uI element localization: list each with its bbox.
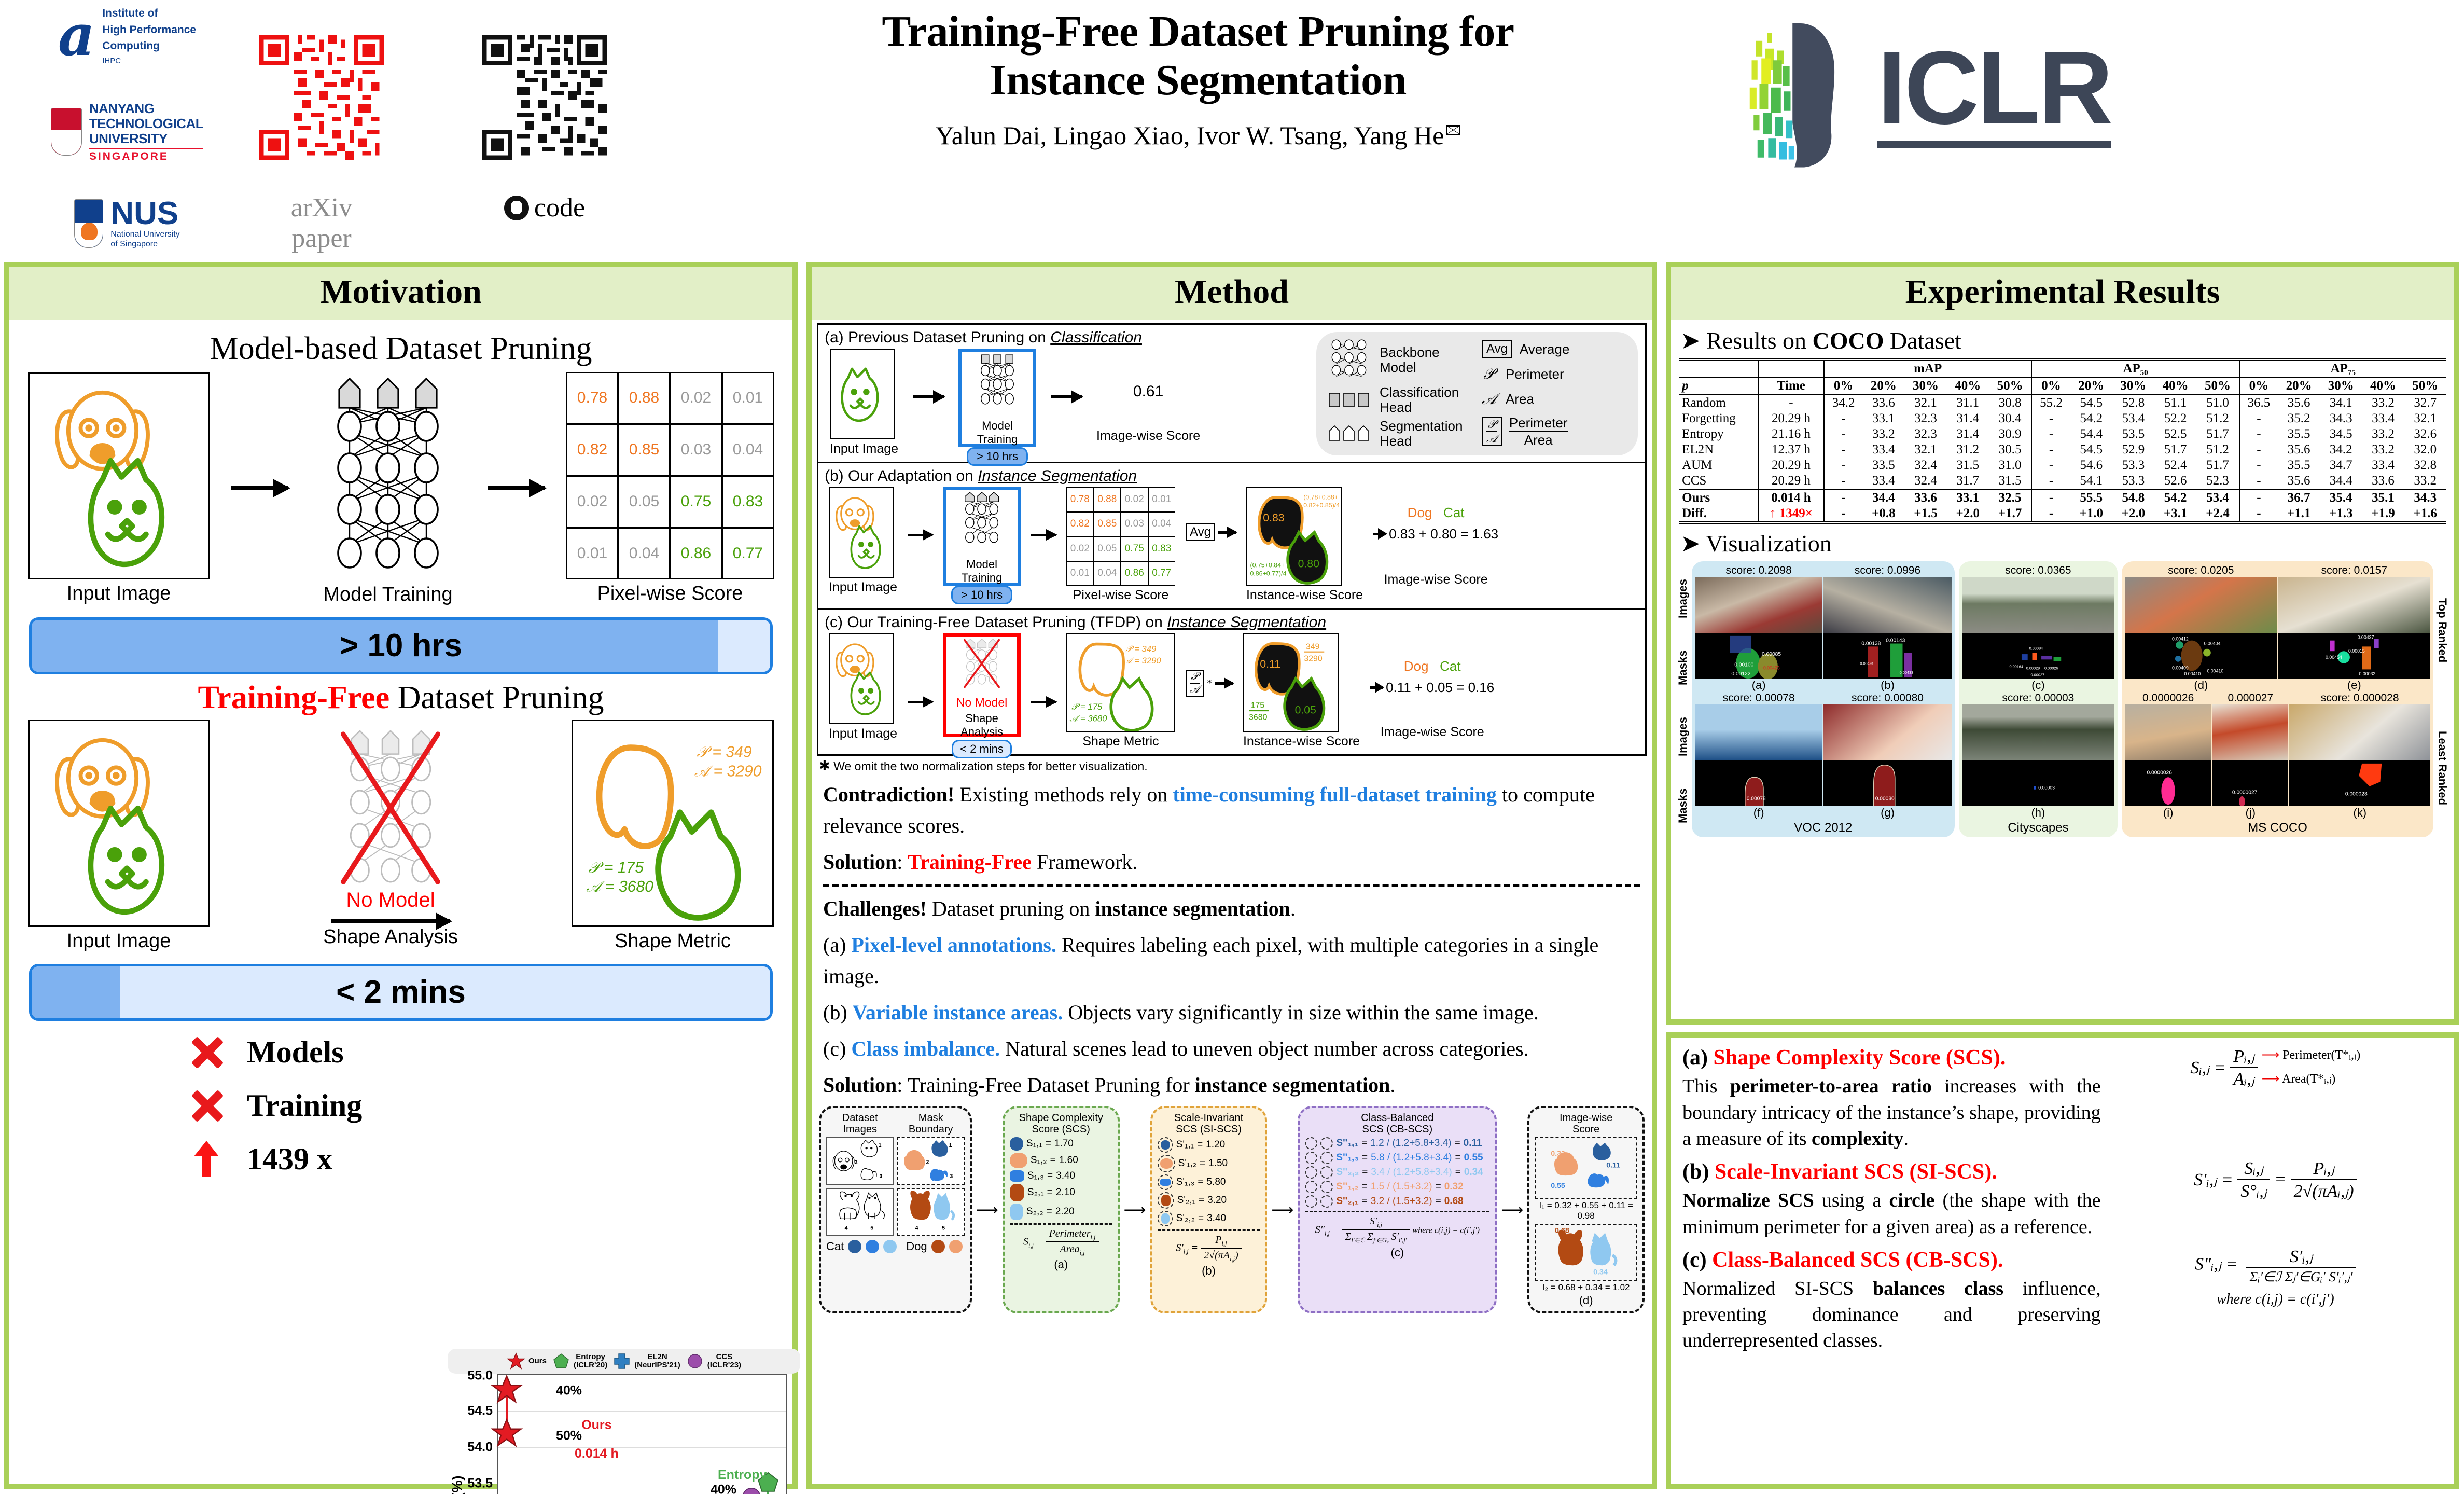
solution1-label: Solution — [823, 850, 897, 874]
cat-area-text: 𝒜 = 3680 — [586, 878, 653, 895]
panel-motivation: Motivation Model-based Dataset Pruning — [4, 262, 798, 1489]
qr-arxiv-paper[interactable]: arXiv paper — [259, 9, 384, 254]
cell: 51.2 — [2196, 442, 2239, 458]
visualization-area: Images Masks Images Masks score: 0.2098 … — [1676, 561, 2449, 837]
qr-code-icon[interactable] — [482, 9, 607, 186]
panel-formulas: (a) Shape Complexity Score (SCS). This p… — [1666, 1032, 2459, 1489]
arxiv-label: arXiv paper — [259, 192, 384, 254]
row-name: Forgetting — [1679, 411, 1758, 426]
contradiction-text: Contradiction! Existing methods rely on … — [823, 779, 1640, 841]
cell: 33.5 — [1862, 458, 1904, 473]
nus-crest-icon — [74, 199, 103, 248]
cell: +0.8 — [1862, 506, 1904, 523]
bullet1-pre: Results on — [1706, 327, 1812, 354]
mask-value: 0.00003 — [2038, 785, 2055, 791]
cbscs-row: S''₂,₂=3.4 / (1.2+5.8+3.4)=0.34 — [1305, 1166, 1489, 1179]
row-name: EL2N — [1679, 442, 1758, 458]
svg-text:0.82+0.85)/4: 0.82+0.85)/4 — [1303, 502, 1340, 509]
siscs-formula: S′i,j = Pi,j2√(πAi,j) — [1158, 1229, 1260, 1263]
time-bar-fast-label: < 2 mins — [32, 966, 770, 1018]
scs-val: 1.60 — [1059, 1155, 1078, 1166]
data-point-ours-50[interactable] — [491, 1417, 523, 1452]
method-c-pill: < 2 mins — [952, 740, 1012, 758]
pixel-cell: 0.85 — [1094, 512, 1121, 537]
cell: - — [1824, 426, 1862, 442]
cell: 51.2 — [2196, 411, 2239, 426]
viz-score: score: 0.00003 — [1962, 692, 2114, 704]
instance-score-illustration: 0.11 349 3290 0.05 175 3680 — [1244, 634, 1338, 731]
checklist-item-training: Training — [190, 1088, 783, 1124]
viz-caption: (f) — [1695, 806, 1822, 820]
cell: 32.4 — [1904, 458, 1946, 473]
cell: - — [1824, 473, 1862, 490]
method-footnote-text: We omit the two normalization steps for … — [833, 759, 1148, 773]
dog-color-swatch-1 — [931, 1240, 945, 1253]
dog-cat-illustration — [30, 374, 208, 578]
cbscs-description: (c) Class-Balanced SCS (CB-SCS). Normali… — [1682, 1246, 2101, 1354]
arrow-right — [1031, 534, 1056, 536]
cell: 33.6 — [1862, 395, 1904, 411]
method-b-model-box: Model Training > 10 hrs — [943, 487, 1021, 586]
cbscs-expr: 5.8 / (1.2+5.8+3.4) — [1371, 1152, 1452, 1164]
viz-caption: (j) — [2212, 806, 2288, 820]
method-c-shape-analysis: Shape Analysis — [946, 712, 1017, 739]
cat-color-swatch-1 — [848, 1240, 861, 1253]
row-label-masks-bottom: Masks — [1676, 783, 1690, 828]
cell: 54.1 — [2070, 473, 2112, 490]
viz-mask: 0.00122 0.00085 0.00100 0.00423 — [1695, 633, 1822, 679]
formula-section-cbscs: (c) Class-Balanced SCS (CB-SCS). Normali… — [1682, 1246, 2443, 1354]
method-a-score: 0.61 — [1096, 383, 1200, 400]
instance-number: 1 — [949, 1142, 952, 1149]
scs-den: Aᵢ,ⱼ — [2230, 1068, 2258, 1089]
cell: +2.0 — [2112, 506, 2154, 523]
pixel-cell: 0.04 — [1094, 561, 1121, 586]
table-column-header-row: p Time 0% 20% 30% 40% 50% 0% 20% 30% 40%… — [1679, 378, 2446, 395]
bullet1-bold: COCO — [1813, 327, 1884, 354]
cat-frac-num: 175 — [1251, 701, 1265, 710]
method-subpanel-c: (c) Our Training-Free Dataset Pruning (T… — [818, 610, 1645, 754]
cell: 31.5 — [1989, 473, 2032, 490]
viz-image — [2125, 577, 2277, 633]
pixel-cell: 0.88 — [618, 372, 670, 424]
ihpc-line1: Institute of — [102, 5, 196, 22]
cell: 32.5 — [1989, 490, 2032, 506]
imagewise-val: 0.55 — [1551, 1181, 1566, 1189]
viz-mask: 0.00003 — [1962, 760, 2114, 806]
mask-value: 0.00122 — [1731, 671, 1750, 677]
viz-score: 0.0000026 — [2125, 692, 2211, 704]
mask-value: 0.00143 — [1886, 638, 1905, 644]
cell: 54.4 — [2070, 426, 2112, 442]
cell: - — [2239, 490, 2278, 506]
title-block: Training-Free Dataset Pruning for Instan… — [711, 7, 1686, 150]
col-ratio: 20% — [2278, 378, 2320, 395]
model-based-title: Model-based Dataset Pruning — [19, 330, 783, 367]
viz-mask: 0.0000027 — [2212, 760, 2288, 806]
pixel-cell: 0.01 — [1148, 487, 1176, 512]
row-label-masks-top: Masks — [1676, 645, 1690, 690]
cbscs-sym: S''₁,₃ — [1336, 1152, 1359, 1164]
cell: - — [1824, 442, 1862, 458]
viz-score: score: 0.0157 — [2278, 564, 2430, 577]
mask-value: 0.00078 — [1747, 796, 1766, 801]
col-ratio: 20% — [1862, 378, 1904, 395]
cell: 31.5 — [1947, 458, 1989, 473]
method-c-title-italic: Instance Segmentation — [1167, 614, 1326, 631]
challenge-b: (b) Variable instance areas. Objects var… — [823, 997, 1640, 1028]
row-name: AUM — [1679, 458, 1758, 473]
neural-net-illustration — [310, 370, 466, 578]
pixel-cell: 0.02 — [1121, 487, 1148, 512]
legend-item-ccs: CCS (ICLR'23) — [686, 1352, 741, 1371]
siscs-num2: Pᵢ,ⱼ — [2291, 1158, 2357, 1180]
x-icon — [190, 1036, 223, 1069]
viz-group-cityscapes: score: 0.0365 0.00084 0.00164 0.00029 0.… — [1959, 561, 2118, 837]
method-c-cat-label: Cat — [1440, 658, 1460, 674]
annot-name: Entropy — [718, 1468, 767, 1482]
method-c-no-model: No Model — [946, 696, 1017, 710]
dog-perimeter: 𝒫 = 349 — [1125, 644, 1156, 654]
cell: - — [2031, 506, 2070, 523]
method-subpanel-a: (a) Previous Dataset Pruning on Classifi… — [818, 325, 1645, 463]
pixel-cell: 0.83 — [1148, 536, 1176, 561]
viz-dataset-name: Cityscapes — [1962, 821, 2114, 835]
method-c-image-caption: Image-wise Score — [1370, 725, 1494, 740]
training-free-red: Training-Free — [198, 680, 390, 715]
viz-mask: 0.00138 0.00143 0.00491 0.00433 — [1823, 633, 1951, 679]
pixel-cell: 0.03 — [670, 424, 722, 476]
siscs-formula: S′ᵢ,ⱼ = Sᵢ,ⱼ S°ᵢ,ⱼ = Pᵢ,ⱼ 2√(πAᵢ,ⱼ) — [2108, 1158, 2443, 1201]
cat-instance-value: 0.05 — [1295, 703, 1316, 716]
cell: 53.4 — [2112, 411, 2154, 426]
arrow-right — [908, 701, 932, 703]
segmentation-head-icon — [1326, 424, 1373, 444]
github-code-label: code — [482, 192, 607, 223]
arrow-right-3 — [331, 919, 450, 923]
ntu-line1: NANYANG — [89, 101, 203, 116]
col-ratio: 0% — [2239, 378, 2278, 395]
method-a-input-caption: Input Image — [830, 441, 898, 457]
cbscs-title: Class-Balanced SCS (CB-SCS) — [1305, 1112, 1489, 1135]
shape-metric-illustration: 𝒫 = 349 𝒜 = 3290 𝒫 = 175 𝒜 = 3680 — [573, 721, 772, 925]
method-a-score-caption: Image-wise Score — [1096, 428, 1200, 444]
arrow-right — [1373, 533, 1386, 535]
cbscs-sym: S''₁,₁ — [1336, 1138, 1358, 1149]
input-image-1 — [28, 372, 210, 579]
cell: 55.2 — [2031, 395, 2070, 411]
cat-illustration — [831, 350, 894, 438]
solution1-highlight: Training-Free — [908, 850, 1031, 874]
challenges-rest: Dataset pruning on — [927, 897, 1095, 920]
results-header: Experimental Results — [1671, 267, 2454, 320]
cell: 33.2 — [2362, 442, 2404, 458]
challenges-text: Challenges! Dataset pruning on instance … — [823, 893, 1640, 924]
annotation-entropy: Entropy 21.16 h — [718, 1454, 767, 1494]
mask-value: 0.00433 — [1900, 670, 1914, 675]
scs-note-num: Perimeter(T*ᵢ,ⱼ) — [2282, 1048, 2360, 1062]
method-b-pixel-caption: Pixel-wise Score — [1066, 588, 1175, 603]
viz-caption: (h) — [1962, 806, 2114, 820]
mask-boundary-1: 1 2 3 — [898, 1138, 963, 1184]
qr-code-icon[interactable] — [259, 9, 384, 186]
nus-name: NUS — [110, 199, 179, 229]
ntu-line4: SINGAPORE — [89, 148, 203, 163]
cbscs-expr: 3.4 / (1.2+5.8+3.4) — [1371, 1167, 1452, 1178]
visualization-groups: score: 0.2098 score: 0.0996 0.00122 0.00… — [1692, 561, 2433, 837]
mask-value: 0.0000026 — [2147, 770, 2173, 776]
challenge-c-highlight: Class imbalance. — [851, 1037, 1000, 1060]
instance-number: 4 — [845, 1225, 848, 1231]
siscs-label: (b) — [1158, 1264, 1260, 1278]
table-row-ours: Ours 0.014 h -34.433.633.132.5 -55.554.8… — [1679, 490, 2446, 506]
qr-github-code[interactable]: code — [482, 9, 607, 223]
plus-marker-icon — [612, 1352, 631, 1371]
bullet2-label: Visualization — [1706, 530, 1832, 557]
imagewise-total-1: I₁ = 0.32 + 0.55 + 0.11 = 0.98 — [1535, 1200, 1637, 1221]
cell: 34.4 — [1862, 490, 1904, 506]
logo-ntu: NANYANG TECHNOLOGICAL UNIVERSITY SINGAPO… — [51, 101, 203, 162]
pixel-cell: 0.03 — [1121, 512, 1148, 537]
cat-formula: (0.75+0.84+ — [1250, 561, 1285, 569]
dog-formula: (0.78+0.88+ — [1303, 493, 1338, 501]
method-b-title-prefix: (b) Our Adaptation on — [825, 467, 978, 485]
viz-caption: (d) — [2125, 679, 2277, 692]
cell: 35.6 — [2278, 395, 2320, 411]
siscs-den2: 2√(πAᵢ,ⱼ) — [2291, 1180, 2357, 1201]
cell: 31.2 — [1947, 442, 1989, 458]
row-name: Diff. — [1679, 506, 1758, 523]
viz-mask: 0.0000026 — [2125, 760, 2211, 806]
cell: - — [2031, 442, 2070, 458]
table-row-diff: Diff. ↑ 1349× -+0.8+1.5+2.0+1.7 -+1.0+2.… — [1679, 506, 2446, 523]
speed-accuracy-scatter-chart: Ours Entropy (ICLR'20) EL2N (NeurIPS'21)… — [448, 1349, 800, 1494]
pixel-cell: 0.01 — [1066, 561, 1094, 586]
cell: 54.8 — [2112, 490, 2154, 506]
shape-metric-caption: Shape Metric — [572, 930, 774, 952]
viz-image — [1695, 577, 1822, 633]
pipeline-legend-dog-label: Dog — [906, 1240, 927, 1253]
challenge-b-highlight: Variable instance areas. — [853, 1001, 1063, 1024]
poster-header: a Institute of High Performance Computin… — [0, 0, 2464, 259]
row-time: 21.16 h — [1758, 426, 1824, 442]
cbscs-title: Class-Balanced SCS (CB-SCS). — [1712, 1248, 2003, 1272]
siscs-den: S°ᵢ,ⱼ — [2237, 1180, 2270, 1201]
mask-value: 0.0000027 — [2232, 790, 2258, 796]
cell: 32.4 — [1904, 473, 1946, 490]
panel-method: Method (a) Previous Dataset Pruning on C… — [806, 262, 1657, 1489]
results-bullet-2: ➤ Visualization — [1680, 529, 2454, 557]
dog-area-text: 𝒜 = 3290 — [694, 763, 762, 780]
siscs-row: S'₂,₁=3.20 — [1158, 1192, 1260, 1209]
method-heading: Method — [812, 272, 1652, 312]
cell: 31.0 — [1989, 458, 2032, 473]
mask-value: 0.00027 — [2030, 673, 2044, 677]
cat-color-swatch-3 — [883, 1240, 897, 1253]
dog-instance-value: 0.83 — [1263, 511, 1284, 524]
pixel-score-grid: 0.78 0.88 0.02 0.01 0.82 0.85 0.03 0.04 … — [566, 372, 774, 579]
legend-label: Ours — [528, 1357, 547, 1365]
cbscs-heading: (c) Class-Balanced SCS (CB-SCS). — [1682, 1246, 2101, 1275]
cell: - — [2031, 490, 2070, 506]
method-c-instance-caption: Instance-wise Score — [1243, 734, 1360, 749]
cell: 34.2 — [1824, 395, 1862, 411]
cell: 33.4 — [1862, 442, 1904, 458]
row-label-images-top: Images — [1676, 571, 1690, 627]
legend-classification-head: Classification Head — [1326, 385, 1472, 414]
cbscs-val: 0.68 — [1444, 1196, 1464, 1207]
col-time: Time — [1758, 378, 1824, 395]
ihpc-line3: Computing — [102, 38, 196, 54]
no-model-label: No Model — [318, 889, 463, 912]
input-caption-2: Input Image — [28, 930, 210, 952]
imagewise-illustration-2: 0.68 0.34 — [1539, 1228, 1633, 1277]
method-c-shape-box: 𝒫 = 349 𝒜 = 3290 𝒫 = 175 𝒜 = 3680 — [1066, 633, 1175, 732]
viz-mask: 0.00412 0.00404 0.00409 0.00410 0.00410 — [2125, 633, 2277, 679]
annot-name: Ours — [581, 1418, 611, 1432]
data-point-ours-40[interactable] — [491, 1374, 523, 1408]
cell: 32.0 — [2404, 442, 2446, 458]
cell: +1.7 — [1989, 506, 2032, 523]
challenges-label: Challenges! — [823, 897, 927, 920]
mask-value: 0.00454 — [2326, 655, 2342, 660]
cbscs-val: 0.34 — [1464, 1167, 1483, 1178]
pixel-cell: 0.85 — [618, 424, 670, 476]
arrow-right — [1218, 531, 1236, 534]
solution2-rest: : Training-Free Dataset Pruning for — [897, 1073, 1194, 1097]
cell: - — [1824, 458, 1862, 473]
table-group-header-row: mAP AP₅₀ AP₇₅ — [1679, 360, 2446, 378]
dog-color-swatch-2 — [949, 1240, 963, 1253]
cell: - — [2239, 506, 2278, 523]
cbscs-row: S''₁,₁=1.2 / (1.2+5.8+3.4)=0.11 — [1305, 1137, 1489, 1150]
imagewise-illustration-1: 0.32 0.11 0.55 — [1539, 1141, 1633, 1195]
method-diagram-box: (a) Previous Dataset Pruning on Classifi… — [817, 323, 1647, 756]
scs-sym: S₁,₂ — [1031, 1155, 1047, 1166]
col-ratio: 30% — [2320, 378, 2362, 395]
legend-label: Area — [1506, 391, 1534, 407]
cell: 30.5 — [1989, 442, 2032, 458]
contradiction-part1: Existing methods rely on — [954, 783, 1173, 806]
cat-perimeter: 𝒫 = 175 — [1071, 702, 1103, 712]
y-axis-label: Accuracy (%) — [450, 1475, 466, 1494]
dog-cat-illustration-2 — [30, 721, 208, 925]
cell: 33.4 — [1862, 473, 1904, 490]
legend-backbone: Backbone Model — [1326, 339, 1472, 381]
row-name: CCS — [1679, 473, 1758, 490]
star-marker-icon[interactable] — [491, 1374, 523, 1406]
cell: 33.1 — [1862, 411, 1904, 426]
cell: - — [2239, 426, 2278, 442]
imagewise-val: 0.32 — [1551, 1149, 1566, 1157]
time-bar-slow-label: > 10 hrs — [32, 620, 770, 672]
cell: +1.0 — [2070, 506, 2112, 523]
iclr-head-icon — [1743, 16, 1862, 171]
shape-swatch — [1010, 1153, 1027, 1168]
side-label-least-ranked: Least Ranked — [2435, 714, 2449, 823]
siscs-val: 5.80 — [1207, 1177, 1226, 1188]
method-c-sum: 0.11 + 0.05 = 0.16 — [1386, 680, 1494, 696]
table-row: Entropy 21.16 h -33.232.331.430.9 -54.45… — [1679, 426, 2446, 442]
dog-area: 𝒜 = 3290 — [1124, 656, 1162, 666]
siscs-row: S'₁,₁=1.20 — [1158, 1137, 1260, 1153]
pipeline-stage-imagewise: Image-wise Score 0.32 0.11 0.55 I₁ = 0.3… — [1527, 1106, 1645, 1313]
annot-time: 0.014 h — [575, 1446, 619, 1461]
cell: 31.4 — [1947, 426, 1989, 442]
method-b-sum: 0.83 + 0.80 = 1.63 — [1389, 526, 1498, 542]
method-b-title: (b) Our Adaptation on Instance Segmentat… — [825, 467, 1639, 485]
cell: - — [1824, 490, 1862, 506]
scs-sym: S₁,₁ — [1026, 1138, 1042, 1150]
arrow-right-2 — [488, 486, 545, 490]
cell: 33.1 — [1947, 490, 1989, 506]
viz-group-voc: score: 0.2098 score: 0.0996 0.00122 0.00… — [1692, 561, 1955, 837]
cell: - — [2031, 458, 2070, 473]
area-icon: 𝒜 — [1482, 391, 1496, 408]
legend-label: Segmentation Head — [1380, 419, 1463, 448]
legend-label: CCS (ICLR'23) — [707, 1353, 741, 1370]
cbscs-sym: S''₂,₁ — [1336, 1196, 1358, 1207]
method-c-instance-box: 0.11 349 3290 0.05 175 3680 — [1243, 633, 1339, 732]
scs-val: 1.70 — [1054, 1138, 1074, 1150]
pixel-cell: 0.01 — [566, 528, 618, 579]
legend-label: Classification Head — [1380, 385, 1459, 414]
mask-value: 0.00032 — [2359, 671, 2375, 676]
pixel-cell: 0.82 — [1066, 512, 1094, 537]
checklist-label: Models — [247, 1034, 344, 1070]
cell: 30.8 — [1989, 395, 2032, 411]
pixel-cell: 0.86 — [670, 528, 722, 579]
cell: 52.3 — [2196, 473, 2239, 490]
contradiction-highlight: time-consuming full-dataset training — [1173, 783, 1496, 806]
checklist-label: Training — [247, 1088, 362, 1124]
logo-ihpc: a Institute of High Performance Computin… — [58, 5, 196, 65]
viz-image — [1962, 704, 2114, 760]
cbscs-row: S''₁,₃=5.8 / (1.2+5.8+3.4)=0.55 — [1305, 1152, 1489, 1164]
table-bottom-rule — [1679, 523, 2446, 524]
ihpc-line2: High Performance — [102, 22, 196, 38]
cbscs-expr: 1.5 / (1.5+3.2) — [1371, 1181, 1432, 1193]
legend-perimeter: 𝒫 Perimeter — [1482, 365, 1628, 383]
instance-number: 3 — [880, 1173, 883, 1180]
cbscs-expr: 1.2 / (1.2+5.8+3.4) — [1370, 1138, 1451, 1149]
viz-score: score: 0.00080 — [1823, 692, 1951, 704]
checklist-item-speedup: 1439 x — [190, 1141, 783, 1177]
pixel-cell: 0.05 — [1094, 536, 1121, 561]
code-label-text: code — [534, 192, 585, 223]
star-marker-icon[interactable] — [491, 1417, 523, 1449]
dataset-image-1: 1 2 3 — [827, 1138, 893, 1184]
input-caption-1: Input Image — [28, 583, 210, 605]
cell: 31.4 — [1947, 411, 1989, 426]
method-a-pill: > 10 hrs — [967, 447, 1028, 466]
col-ratio: 50% — [1989, 378, 2032, 395]
arrow-right — [913, 395, 944, 398]
cell: 33.6 — [1904, 490, 1946, 506]
viz-score: score: 0.0365 — [1962, 564, 2114, 577]
method-b-pixel-grid: 0.78 0.88 0.02 0.01 0.82 0.85 0.03 0.04 … — [1066, 487, 1175, 586]
scs-sym: S₂,₁ — [1027, 1187, 1044, 1198]
shape-swatch — [1010, 1184, 1024, 1201]
cell: 54.6 — [2070, 458, 2112, 473]
results-heading: Experimental Results — [1671, 272, 2454, 312]
viz-score: score: 0.0996 — [1823, 564, 1951, 577]
cell: 51.7 — [2196, 458, 2239, 473]
cell: 35.2 — [2278, 411, 2320, 426]
arrow-right — [1031, 701, 1056, 703]
viz-score: score: 0.2098 — [1695, 564, 1822, 577]
scs-description: (a) Shape Complexity Score (SCS). This p… — [1682, 1044, 2101, 1152]
